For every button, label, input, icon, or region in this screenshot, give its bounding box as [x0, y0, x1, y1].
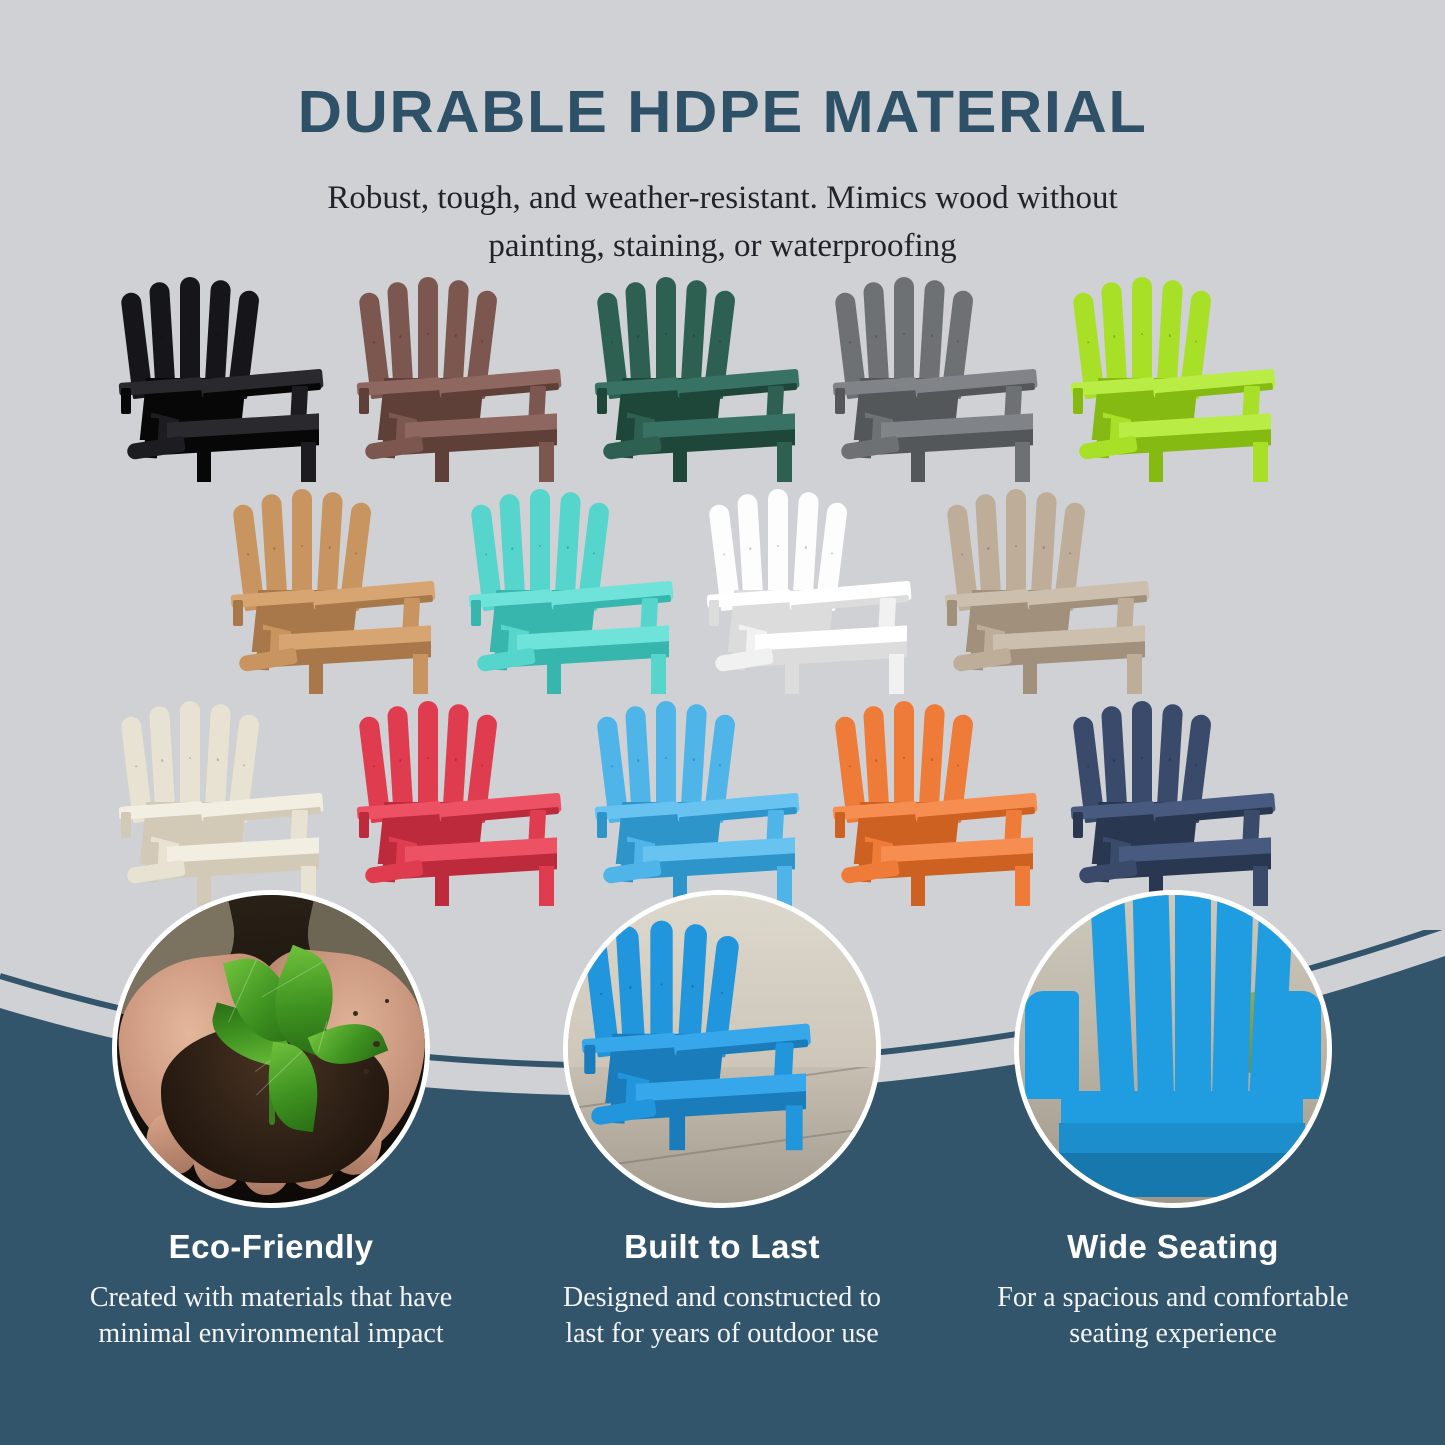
adirondack-chair-icon: [465, 480, 691, 692]
feature-desc-line-2: minimal environmental impact: [28, 1316, 514, 1352]
chair-swatch-black[interactable]: [115, 268, 341, 480]
feature-title-wide-seating: Wide Seating: [950, 1228, 1396, 1266]
chair-leg-front-right: [1253, 442, 1268, 482]
blue-chair-wide-seat-icon: [1019, 895, 1327, 1203]
chair-arm-support-left: [709, 600, 719, 626]
chair-leg-front-right: [301, 442, 316, 482]
feature-desc-line-1: Created with materials that have: [28, 1280, 514, 1316]
chair-leg-front-right: [889, 654, 904, 694]
chair-leg-front-right: [539, 866, 554, 906]
chair-leg-front-left: [435, 448, 449, 482]
feature-image-wide-seating: [1014, 890, 1332, 1208]
chair-leg-front-right: [651, 654, 666, 694]
feature-desc-line-2: last for years of outdoor use: [484, 1316, 960, 1352]
chair-leg-front-left: [673, 448, 687, 482]
chair-swatch-light-blue[interactable]: [591, 692, 817, 904]
chair-swatch-beige[interactable]: [941, 480, 1167, 692]
feature-desc-line-1: For a spacious and comfortable: [930, 1280, 1416, 1316]
adirondack-chair-icon: [353, 268, 579, 480]
chair-swatch-gray[interactable]: [829, 268, 1055, 480]
adirondack-chair-icon: [115, 268, 341, 480]
chair-arm-support-left: [1073, 812, 1083, 838]
page-subtitle: Robust, tough, and weather-resistant. Mi…: [218, 175, 1228, 271]
feature-desc-line-1: Designed and constructed to: [484, 1280, 960, 1316]
blue-adirondack-chair-icon: [568, 895, 876, 1203]
adirondack-chair-icon: [591, 268, 817, 480]
adirondack-chair-icon: [829, 268, 1055, 480]
chair-arm-support-left: [121, 388, 131, 414]
chair-swatch-navy-blue[interactable]: [1067, 692, 1293, 904]
chair-swatch-turquoise[interactable]: [465, 480, 691, 692]
chair-arm-support-left: [597, 812, 607, 838]
chair-swatch-lime-green[interactable]: [1067, 268, 1293, 480]
chair-leg-front-left: [309, 660, 323, 694]
feature-image-eco-friendly: [112, 890, 430, 1208]
chair-leg-front-left: [785, 660, 799, 694]
subtitle-line-1: Robust, tough, and weather-resistant. Mi…: [218, 175, 1228, 223]
chair-row-3: [0, 692, 1445, 904]
chair-leg-front-left: [911, 448, 925, 482]
chair-leg-front-left: [197, 448, 211, 482]
adirondack-chair-icon: [227, 480, 453, 692]
adirondack-chair-icon: [1067, 268, 1293, 480]
infographic-canvas: DURABLE HDPE MATERIAL Robust, tough, and…: [0, 0, 1445, 1445]
chair-arm-support-left: [947, 600, 957, 626]
chair-leg-front-right: [1015, 442, 1030, 482]
chair-row-2: [0, 480, 1445, 692]
chair-arm-support-left: [471, 600, 481, 626]
chair-swatch-ivory[interactable]: [115, 692, 341, 904]
chair-leg-front-left: [1023, 660, 1037, 694]
feature-image-built-to-last: [563, 890, 881, 1208]
adirondack-chair-icon: [829, 692, 1055, 904]
chair-leg-front-left: [911, 872, 925, 906]
chair-arm-support-left: [359, 388, 369, 414]
chair-arm-support-left: [359, 812, 369, 838]
chair-swatch-brown[interactable]: [353, 268, 579, 480]
chair-swatch-white[interactable]: [703, 480, 929, 692]
feature-desc-built-to-last: Designed and constructed to last for yea…: [484, 1280, 960, 1353]
chair-leg-front-right: [1127, 654, 1142, 694]
adirondack-chair-icon: [941, 480, 1167, 692]
chair-swatch-red[interactable]: [353, 692, 579, 904]
chair-row-1: [0, 268, 1445, 480]
seedling-in-hands-icon: [117, 895, 425, 1203]
adirondack-chair-icon: [353, 692, 579, 904]
chair-leg-front-right: [539, 442, 554, 482]
chair-swatch-orange[interactable]: [829, 692, 1055, 904]
chair-leg-front-left: [547, 660, 561, 694]
adirondack-chair-icon: [591, 692, 817, 904]
subtitle-line-2: painting, staining, or waterproofing: [218, 223, 1228, 271]
adirondack-chair-icon: [1067, 692, 1293, 904]
feature-title-built-to-last: Built to Last: [499, 1228, 945, 1266]
chair-arm-support-left: [835, 812, 845, 838]
chair-arm-support-left: [835, 388, 845, 414]
chair-leg-front-left: [1149, 448, 1163, 482]
chair-color-grid: [0, 268, 1445, 904]
feature-desc-eco-friendly: Created with materials that have minimal…: [28, 1280, 514, 1353]
chair-leg-front-right: [777, 442, 792, 482]
chair-swatch-dark-green[interactable]: [591, 268, 817, 480]
chair-arm-support-left: [121, 812, 131, 838]
chair-arm-support-left: [597, 388, 607, 414]
adirondack-chair-icon: [115, 692, 341, 904]
chair-arm-support-left: [1073, 388, 1083, 414]
chair-leg-front-left: [435, 872, 449, 906]
page-title: DURABLE HDPE MATERIAL: [0, 78, 1445, 146]
feature-desc-wide-seating: For a spacious and comfortable seating e…: [930, 1280, 1416, 1353]
feature-title-eco-friendly: Eco-Friendly: [48, 1228, 494, 1266]
chair-leg-front-right: [413, 654, 428, 694]
chair-swatch-teak[interactable]: [227, 480, 453, 692]
feature-desc-line-2: seating experience: [930, 1316, 1416, 1352]
chair-arm-support-left: [233, 600, 243, 626]
adirondack-chair-icon: [703, 480, 929, 692]
